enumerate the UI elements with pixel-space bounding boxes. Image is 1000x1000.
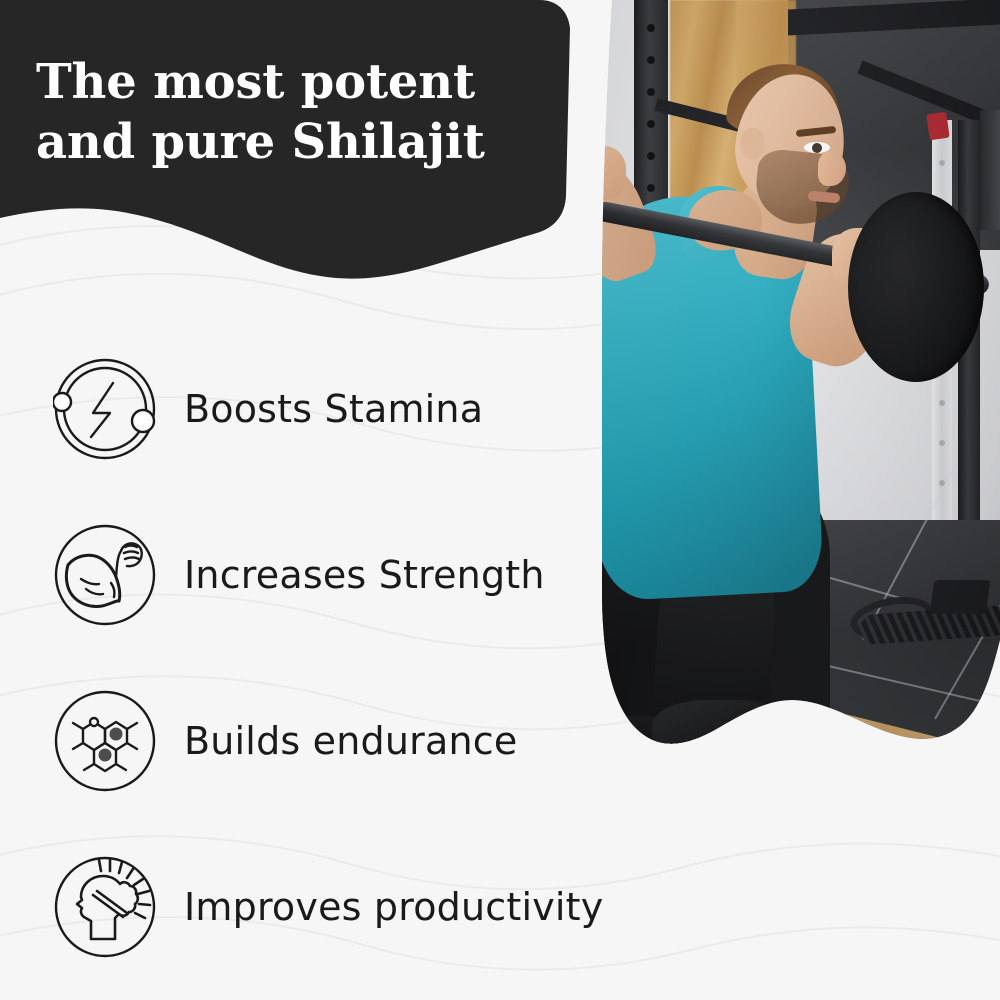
pupil: [812, 143, 822, 153]
benefit-label: Improves productivity: [184, 885, 603, 929]
hero-photo: [560, 0, 1000, 810]
benefit-label: Builds endurance: [184, 719, 517, 763]
shilajit-benefits-poster: The most potentand pure Shilajit Boosts …: [0, 0, 1000, 1000]
headline-line-1: The most potent: [36, 54, 475, 110]
weight-plate: [848, 192, 984, 382]
page-title: The most potentand pure Shilajit: [36, 52, 536, 173]
benefit-item-builds-endurance: Builds endurance: [52, 658, 612, 824]
benefit-label: Boosts Stamina: [184, 387, 483, 431]
flexed-bicep-icon: [52, 522, 158, 628]
head-brain-rays-icon: [52, 854, 158, 960]
ear: [740, 128, 764, 160]
benefit-item-improves-productivity: Improves productivity: [52, 824, 612, 990]
benefits-list: Boosts Stamina Increases Stren: [52, 326, 612, 990]
lightning-bolt-icon: [52, 356, 158, 462]
weightlifter: [560, 0, 1000, 810]
benefit-label: Increases Strength: [184, 553, 545, 597]
molecule-icon: [52, 688, 158, 794]
headline-line-2: and pure Shilajit: [36, 114, 485, 170]
benefit-item-increases-strength: Increases Strength: [52, 492, 612, 658]
gym-scene: [560, 0, 1000, 810]
benefit-item-boosts-stamina: Boosts Stamina: [52, 326, 612, 492]
